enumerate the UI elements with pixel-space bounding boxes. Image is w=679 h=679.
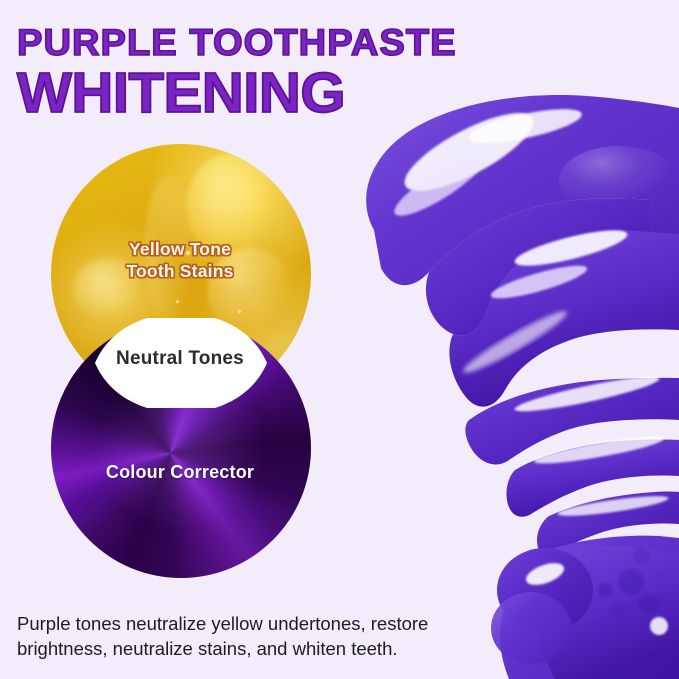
venn-label-yellow-line2: Tooth Stains xyxy=(0,260,360,282)
venn-label-yellow-line1: Yellow Tone xyxy=(0,238,360,260)
page-title: PURPLE TOOTHPASTE WHITENING xyxy=(17,23,444,122)
venn-label-neutral-tones: Neutral Tones xyxy=(0,348,360,370)
venn-label-colour-corrector: Colour Corrector xyxy=(0,462,360,483)
title-line-1: PURPLE TOOTHPASTE xyxy=(17,23,457,63)
gel-speck xyxy=(176,300,179,303)
venn-label-yellow-tone: Yellow Tone Tooth Stains xyxy=(0,238,360,282)
caption-text: Purple tones neutralize yellow undertone… xyxy=(17,611,517,661)
title-line-2: WHITENING xyxy=(17,64,452,122)
infographic-root: PURPLE TOOTHPASTE WHITENING Yellow Tone xyxy=(0,0,679,679)
